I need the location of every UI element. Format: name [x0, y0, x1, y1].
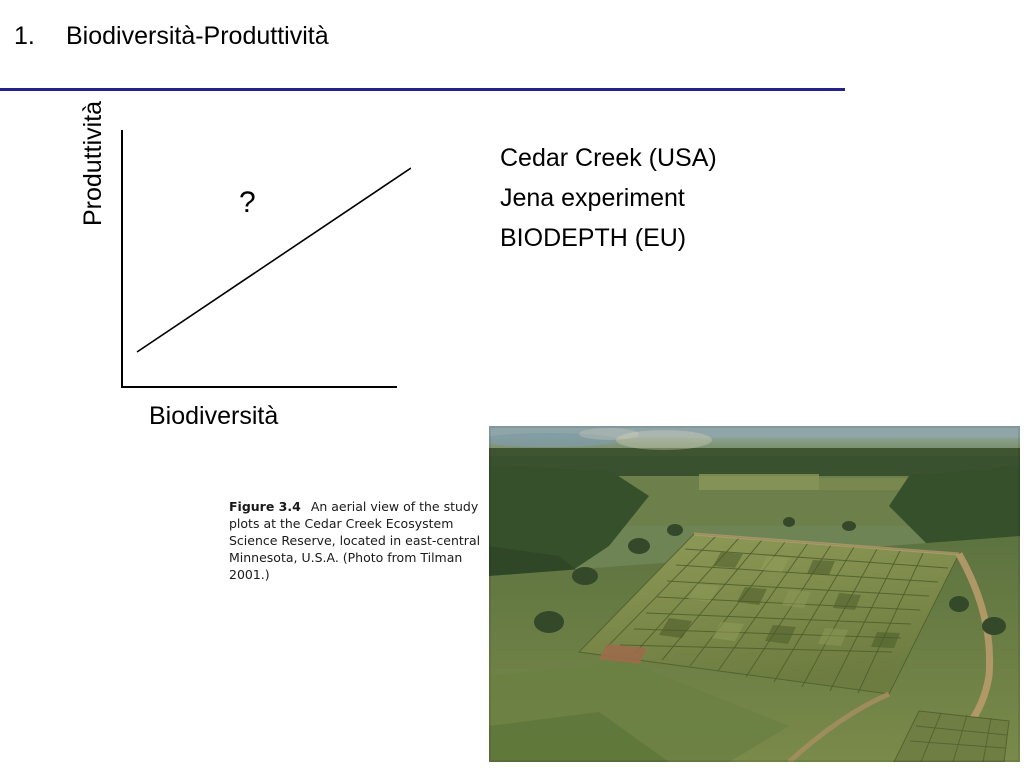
list-item: Cedar Creek (USA)	[500, 138, 717, 178]
title-divider	[0, 88, 845, 91]
aerial-photo-cedar-creek	[489, 426, 1020, 762]
figure-label: Figure 3.4	[229, 499, 301, 514]
aerial-photo-image	[489, 426, 1020, 762]
chart-question-annotation: ?	[239, 186, 256, 220]
list-item: BIODEPTH (EU)	[500, 218, 717, 258]
chart-x-axis-label: Biodiversità	[149, 402, 278, 431]
biodiversity-productivity-chart: Produttività ? Biodiversità	[85, 130, 425, 440]
chart-trend-line	[121, 130, 411, 390]
figure-caption: Figure 3.4An aerial view of the study pl…	[229, 498, 485, 583]
study-sites-list: Cedar Creek (USA) Jena experiment BIODEP…	[500, 138, 717, 258]
title-text: Biodiversità-Produttività	[66, 22, 329, 51]
chart-plot-area: ?	[121, 130, 411, 390]
list-item: Jena experiment	[500, 178, 717, 218]
chart-y-axis-label: Produttività	[79, 101, 108, 226]
title-number: 1.	[14, 22, 66, 51]
page-title: 1. Biodiversità-Produttività	[14, 22, 874, 51]
